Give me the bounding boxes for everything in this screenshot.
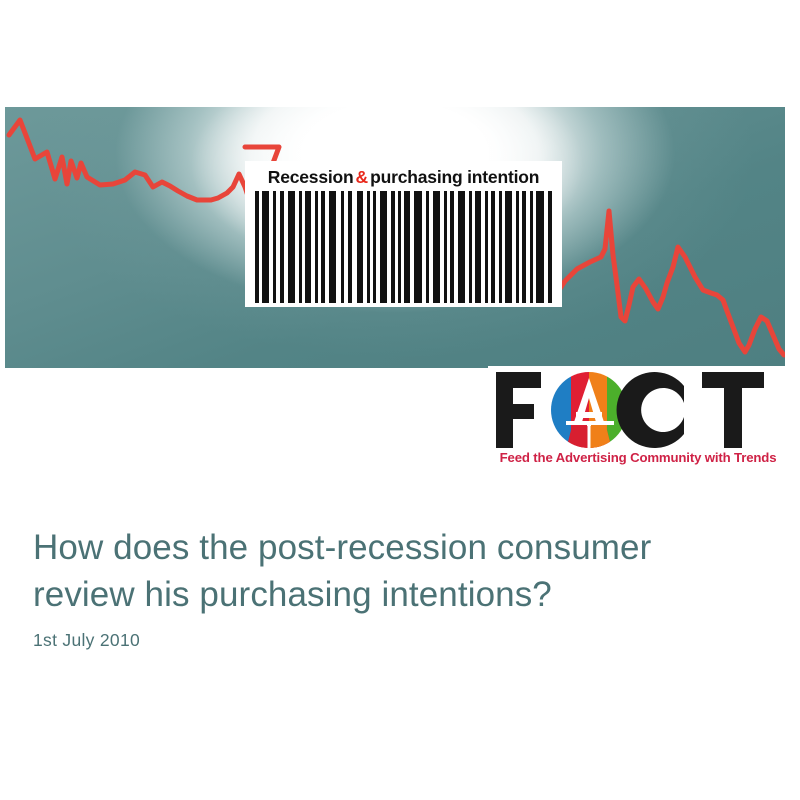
barcode-graphic: Recession & purchasing intention (245, 161, 562, 307)
page-title: How does the post-recession consumer rev… (33, 524, 763, 618)
fact-wordmark (488, 366, 788, 454)
logo-letter-t (702, 372, 764, 448)
page-title-line-2: review his purchasing intentions? (33, 571, 763, 618)
logo-letter-f (496, 372, 541, 448)
barcode-title-bar: Recession & purchasing intention (245, 161, 562, 193)
barcode-bars (245, 191, 562, 307)
barcode-title-prefix: Recession (268, 167, 354, 188)
logo-letter-c (617, 372, 684, 448)
page-title-line-1: How does the post-recession consumer (33, 524, 763, 571)
slide-date: 1st July 2010 (33, 630, 140, 651)
trend-line-left (9, 120, 279, 210)
hero-banner: Recession & purchasing intention (5, 107, 785, 368)
barcode-bar-group (255, 191, 552, 303)
trend-line-right (557, 211, 784, 355)
barcode-title-ampersand: & (354, 167, 371, 188)
fact-logo: Feed the Advertising Community with Tren… (488, 366, 788, 478)
barcode-title-suffix: purchasing intention (370, 167, 539, 188)
fact-tagline: Feed the Advertising Community with Tren… (488, 450, 788, 465)
